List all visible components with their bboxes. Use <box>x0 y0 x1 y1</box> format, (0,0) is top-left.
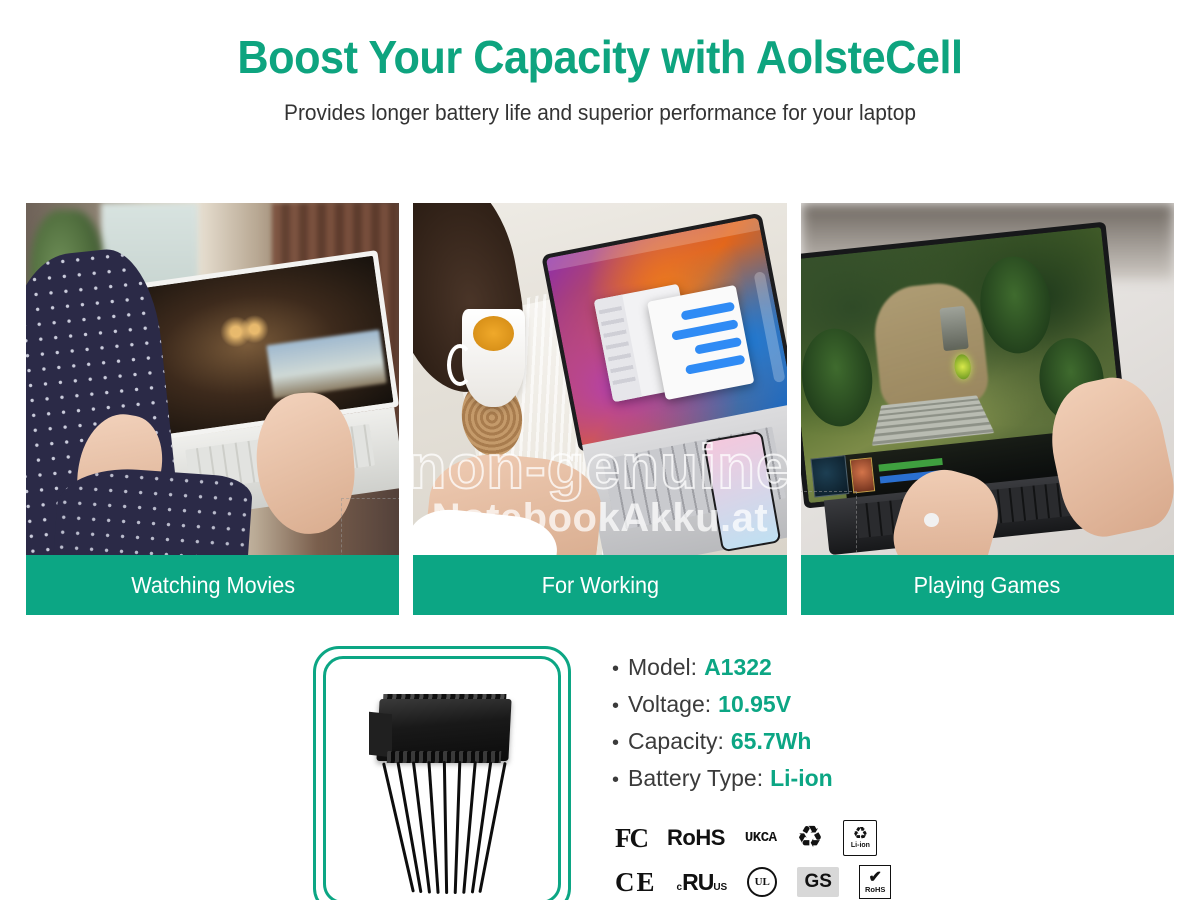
use-case-panels: Watching Movies <box>26 203 1174 615</box>
certification-row-2: CE c RU US UL GS ✔ RoHS <box>615 860 915 900</box>
photo2-chat-bubble <box>694 337 742 355</box>
product-image-frame <box>313 646 571 900</box>
bullet-icon: • <box>612 733 619 753</box>
spec-row-capacity: • Capacity: 65.7Wh <box>612 728 942 755</box>
ukca-line-1: UK <box>745 832 761 845</box>
spec-row-voltage: • Voltage: 10.95V <box>612 691 942 718</box>
spec-value: Li-ion <box>770 765 833 792</box>
bullet-icon: • <box>612 696 619 716</box>
photo2-chat-bubble <box>671 319 739 341</box>
connector-wires <box>392 761 511 894</box>
panel-caption-playing-games: Playing Games <box>801 555 1174 615</box>
photo1-movie-sky <box>267 330 387 399</box>
recycle-icon: ♻ <box>797 823 824 853</box>
wire <box>427 761 439 894</box>
bullet-icon: • <box>612 659 619 679</box>
ukca-icon: UK CA <box>745 832 777 845</box>
photo1-crop-guide <box>341 498 399 555</box>
spec-row-battery-type: • Battery Type: Li-ion <box>612 765 942 792</box>
bullet-icon: • <box>612 770 619 790</box>
certification-marks: FC RoHS UK CA ♻ ♻ Li-ion CE c RU US <box>615 816 915 900</box>
spec-value: 10.95V <box>718 691 791 718</box>
panel-caption-for-working: For Working <box>413 555 786 615</box>
check-glyph: ✔ <box>869 870 882 885</box>
spec-value: 65.7Wh <box>731 728 812 755</box>
wire <box>443 761 448 894</box>
photo3-crop-guide <box>801 491 857 555</box>
page-subtitle: Provides longer battery life and superio… <box>30 100 1170 126</box>
panel-caption-label: Watching Movies <box>131 572 295 599</box>
photo3-tower <box>939 305 969 351</box>
photo1-sleeve <box>52 464 253 555</box>
panel-caption-label: Playing Games <box>914 572 1061 599</box>
rohs-check-icon: ✔ RoHS <box>859 865 891 899</box>
photo-playing-games <box>801 203 1174 555</box>
ul-suffix: US <box>713 882 727 893</box>
use-case-panel-for-working: For Working <box>413 203 786 615</box>
photo2-mug-handle <box>447 344 473 386</box>
recycle-glyph: ♻ <box>853 826 868 842</box>
product-details-section: • Model: A1322 • Voltage: 10.95V • Capac… <box>0 638 1200 900</box>
spec-row-model: • Model: A1322 <box>612 654 942 681</box>
use-case-panel-playing-games: Playing Games <box>801 203 1174 615</box>
panel-caption-label: For Working <box>541 572 658 599</box>
photo3-ring <box>924 513 939 527</box>
spec-label: Voltage: <box>628 691 711 718</box>
product-photo <box>328 661 556 899</box>
photo2-tea <box>473 316 514 351</box>
photo3-path <box>870 280 990 413</box>
photo3-hero-portrait <box>850 458 876 494</box>
spec-label: Battery Type: <box>628 765 763 792</box>
liion-recycle-icon: ♻ Li-ion <box>843 820 877 856</box>
liion-label: Li-ion <box>851 842 870 850</box>
ul-listed-icon: UL <box>747 867 777 897</box>
promo-page: Boost Your Capacity with AolsteCell Prov… <box>0 30 1200 900</box>
wire <box>454 761 462 894</box>
certification-row-1: FC RoHS UK CA ♻ ♻ Li-ion <box>615 816 915 860</box>
ukca-line-2: CA <box>761 832 777 845</box>
ul-ru-glyph: RU <box>682 869 713 896</box>
photo-watching-movies <box>26 203 399 555</box>
photo1-sleeve-pattern <box>52 464 253 555</box>
photo3-tree <box>976 253 1056 358</box>
spec-value: A1322 <box>704 654 772 681</box>
panel-caption-watching-movies: Watching Movies <box>26 555 399 615</box>
photo-for-working <box>413 203 786 555</box>
specs-list: • Model: A1322 • Voltage: 10.95V • Capac… <box>612 654 942 802</box>
ul-recognized-icon: c RU US <box>677 869 728 896</box>
page-title: Boost Your Capacity with AolsteCell <box>36 30 1164 84</box>
use-case-panel-watching-movies: Watching Movies <box>26 203 399 615</box>
ce-icon: CE <box>615 867 657 898</box>
photo1-movie-frame <box>139 256 394 435</box>
photo3-tree <box>801 326 878 431</box>
rohs-label: RoHS <box>865 885 885 894</box>
spec-label: Model: <box>628 654 697 681</box>
spec-label: Capacity: <box>628 728 724 755</box>
photo2-window-chat <box>647 285 755 401</box>
rohs-text-icon: RoHS <box>667 825 725 851</box>
fcc-icon: FC <box>615 823 647 854</box>
photo2-chat-bubble <box>680 301 735 320</box>
photo2-chat-bubble <box>685 355 745 375</box>
gs-icon: GS <box>797 867 839 897</box>
